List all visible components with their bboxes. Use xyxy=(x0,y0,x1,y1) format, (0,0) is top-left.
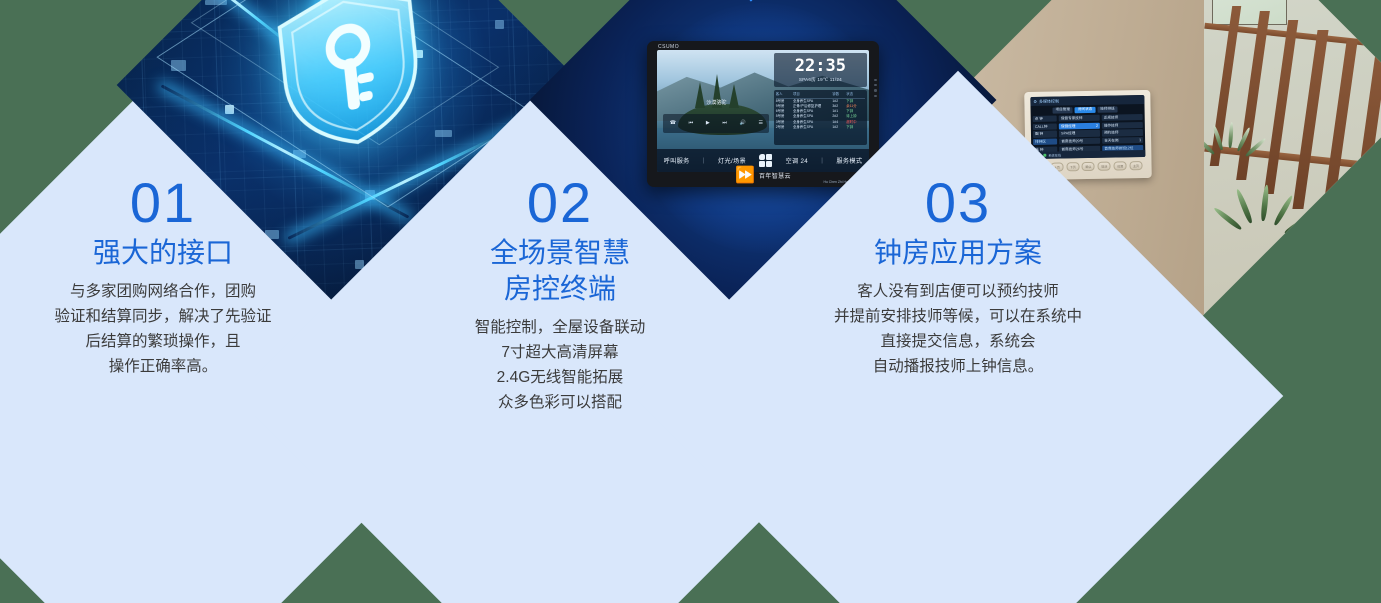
clock-subtitle: SPA6房 19℃ 11/24 xyxy=(799,77,842,83)
panel-button-6[interactable]: 主页 xyxy=(1130,161,1143,170)
prev-icon[interactable]: ⏮ xyxy=(689,120,694,126)
phone-icon[interactable]: ☎ xyxy=(670,120,676,126)
clock-time: 22:35 xyxy=(795,58,846,75)
play-icon[interactable]: ▶ xyxy=(706,120,710,126)
brand-logo-mark: ⏩ xyxy=(735,165,755,185)
mid-item-1[interactable]: 保健经理 2 xyxy=(1059,122,1100,129)
panel-screen[interactable]: ⚙ 多媒体控制 项目管理 房间状态 技师排班 点 钟 CALL钟 圈 钟 排钟 xyxy=(1031,95,1146,159)
panel-title-text: 多媒体控制 xyxy=(1039,98,1059,104)
td-guest: 2号房 xyxy=(776,125,791,130)
panel-tab-1[interactable]: 房间状态 xyxy=(1075,106,1095,113)
separator: | xyxy=(821,157,823,164)
feature-card-3-body: 03 钟房应用方案 客人没有到店便可以预约技师 并提前安排技师等候，可以在系统中… xyxy=(728,166,1188,603)
mid-item-0[interactable]: 保健专家技师 xyxy=(1059,114,1100,121)
infographic-canvas: 01 强大的接口 与多家团购网络合作，团购 验证和结算同步，解决了先验证 后结算… xyxy=(0,0,1381,603)
mid-item-1-badge: 2 xyxy=(1096,123,1098,128)
clock-widget: 22:35 SPA6房 19℃ 11/24 xyxy=(774,53,867,87)
separator: | xyxy=(703,157,705,164)
left-item-1[interactable]: CALL钟 xyxy=(1033,123,1057,129)
panel-button-4[interactable]: 取消 xyxy=(1098,161,1111,170)
panel-button-2[interactable]: 下页 xyxy=(1066,162,1079,171)
next-icon[interactable]: ⏭ xyxy=(722,120,727,126)
right-item-3[interactable]: 全天在岗 1 xyxy=(1102,137,1143,144)
bottom-item-service[interactable]: 服务模式 xyxy=(836,156,862,165)
right-item-3-label: 全天在岗 xyxy=(1104,138,1118,143)
td-item: 全身养生SPA xyxy=(793,125,830,130)
card-number: 01 xyxy=(130,174,196,231)
th-status: 状态 xyxy=(846,92,865,97)
table-row: 2号房 全身养生SPA 1#2 下钟 xyxy=(776,125,865,130)
card-number: 03 xyxy=(925,174,991,231)
pulse-wave-icon xyxy=(703,0,823,6)
room-control-tablet[interactable]: CSUMO 22:35 SPA6房 19℃ 11/24 客人 xyxy=(647,41,879,187)
left-item-0[interactable]: 点 钟 xyxy=(1033,115,1057,121)
panel-logo-icon: ⚙ xyxy=(1034,98,1038,103)
th-item: 项目 xyxy=(793,92,830,97)
wood-slat xyxy=(1293,29,1329,208)
panel-right-column[interactable]: 正规技师 操作技师 预约技师 全天在岗 1 首席技师排班12位 xyxy=(1102,114,1144,156)
wood-slat xyxy=(1264,20,1298,194)
card-description: 与多家团购网络合作，团购 验证和结算同步，解决了先验证 后结算的繁琐操作，且 操… xyxy=(54,279,271,379)
panel-status-text: 系统在线 xyxy=(1048,152,1061,157)
wood-rail xyxy=(1204,145,1381,175)
right-item-3-badge: 1 xyxy=(1139,138,1141,143)
bottom-item-ac[interactable]: 空调 24 xyxy=(785,156,807,165)
room-status-table: 客人 项目 钟数 状态 8号房 全身养生SPA 1#2 下钟 9号房 xyxy=(774,90,867,145)
card-description: 智能控制，全屋设备联动 7寸超大高清屏幕 2.4G无线智能拓展 众多色彩可以搭配 xyxy=(475,315,646,415)
bottom-item-light[interactable]: 灯光/场景 xyxy=(718,156,746,165)
left-item-3[interactable]: 排钟区 xyxy=(1033,138,1057,144)
panel-middle-column[interactable]: 保健专家技师 保健经理 2 SPA经理 首席技师20号 首席技师26号 xyxy=(1059,114,1101,156)
mid-item-1-label: 保健经理 xyxy=(1061,123,1075,128)
right-item-1[interactable]: 操作技师 xyxy=(1102,121,1143,128)
list-icon[interactable]: ☰ xyxy=(759,120,763,126)
window-pane xyxy=(1212,0,1287,25)
card-title: 强大的接口 xyxy=(93,235,233,271)
card-title: 全场景智慧 房控终端 xyxy=(490,235,630,307)
media-title: 沙漠骆驼 xyxy=(663,99,769,106)
panel-tab-2[interactable]: 技师排班 xyxy=(1097,106,1117,113)
card-description: 客人没有到店便可以预约技师 并提前安排技师等候，可以在系统中 直接提交信息，系统… xyxy=(834,279,1082,379)
td-count: 1#2 xyxy=(832,125,844,130)
tablet-side-sensors xyxy=(874,79,877,129)
panel-status-bar: 系统在线 xyxy=(1031,150,1145,159)
right-item-0[interactable]: 正规技师 xyxy=(1102,114,1143,121)
wood-slat xyxy=(1321,39,1358,222)
panel-button-3[interactable]: 确认 xyxy=(1082,161,1095,170)
card-number: 02 xyxy=(527,174,593,231)
right-item-2[interactable]: 预约技师 xyxy=(1102,129,1143,136)
th-guest: 客人 xyxy=(776,92,791,97)
tablet-screen[interactable]: 22:35 SPA6房 19℃ 11/24 客人 项目 钟数 状态 8号房 全身 xyxy=(657,50,869,172)
mid-item-3[interactable]: 首席技师20号 xyxy=(1059,137,1100,144)
panel-button-5[interactable]: 设置 xyxy=(1114,161,1127,170)
bottom-item-call[interactable]: 呼叫服务 xyxy=(664,156,690,165)
td-status: 下钟 xyxy=(846,125,865,130)
left-item-2[interactable]: 圈 钟 xyxy=(1033,131,1057,137)
panel-tab-0[interactable]: 项目管理 xyxy=(1053,106,1073,113)
brand-name: 百年智慧云 xyxy=(759,171,791,180)
room-right-area xyxy=(1199,0,1381,333)
card-title: 钟房应用方案 xyxy=(874,235,1042,271)
th-count: 钟数 xyxy=(832,92,844,97)
volume-icon[interactable]: 🔊 xyxy=(740,120,746,126)
wood-slat xyxy=(1349,48,1381,236)
mid-item-2[interactable]: SPA经理 xyxy=(1059,130,1100,137)
media-controls[interactable]: ☎ ⏮ ▶ ⏭ 🔊 ☰ xyxy=(663,114,769,134)
